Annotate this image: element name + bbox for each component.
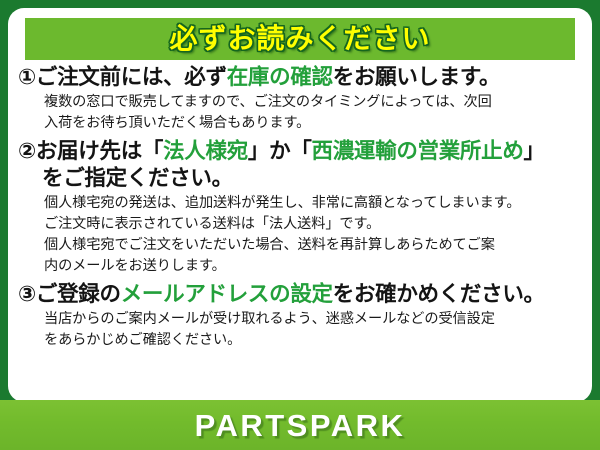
notice-item-2: ②お届け先は「法人様宛」か「西濃運輸の営業所止め」 をご指定ください。 個人様宅… [18,138,582,277]
notice-item-1-marker: ① [18,65,36,89]
notice-item-1-heading: ①ご注文前には、必ず在庫の確認をお願いします。 [18,64,582,91]
notice-item-2-sub: 個人様宅宛の発送は、追加送料が発生し、非常に高額となってしまいます。 ご注文時に… [18,192,582,277]
notice-card: 必ずお読みください ①ご注文前には、必ず在庫の確認をお願いします。 複数の窓口で… [0,0,600,450]
notice-item-3: ③ご登録のメールアドレスの設定をお確かめください。 当店からのご案内メールが受け… [18,281,582,351]
notice-body: ①ご注文前には、必ず在庫の確認をお願いします。 複数の窓口で販売してますので、ご… [8,64,592,355]
notice-item-2-highlight-2: 西濃運輸の営業所止め [312,139,524,163]
notice-item-2-highlight-1: 法人様宛 [163,139,248,163]
notice-item-2-part-2: 」か「 [248,139,312,163]
notice-item-3-sub: 当店からのご案内メールが受け取れるよう、迷惑メールなどの受信設定 をあらかじめご… [18,308,582,351]
notice-item-3-part-0: ご登録の [36,282,121,306]
notice-item-2-heading: ②お届け先は「法人様宛」か「西濃運輸の営業所止め」 [18,138,582,165]
page-title: 必ずお読みください [169,25,430,53]
notice-item-3-heading: ③ご登録のメールアドレスの設定をお確かめください。 [18,281,582,308]
notice-item-2-part-0: お届け先は「 [36,139,163,163]
notice-item-3-highlight: メールアドレスの設定 [121,282,333,306]
notice-item-3-part-2: をお確かめください。 [333,282,545,306]
notice-item-2-part-4: 」 [524,139,545,163]
notice-panel: 必ずお読みください ①ご注文前には、必ず在庫の確認をお願いします。 複数の窓口で… [8,8,592,402]
footer-band: PARTSPARK [0,400,600,450]
notice-item-2-marker: ② [18,139,36,163]
notice-item-3-marker: ③ [18,282,36,306]
notice-item-2-heading-continued: をご指定ください。 [18,165,582,192]
header-banner: 必ずお読みください [25,18,575,60]
brand-logo: PARTSPARK [195,410,406,441]
notice-item-1-part-0: ご注文前には、必ず [36,65,227,89]
notice-item-1-highlight: 在庫の確認 [227,65,333,89]
notice-item-1-part-2: をお願いします。 [333,65,500,89]
notice-item-1: ①ご注文前には、必ず在庫の確認をお願いします。 複数の窓口で販売してますので、ご… [18,64,582,134]
notice-item-1-sub: 複数の窓口で販売してますので、ご注文のタイミングによっては、次回 入荷をお待ち頂… [18,91,582,134]
